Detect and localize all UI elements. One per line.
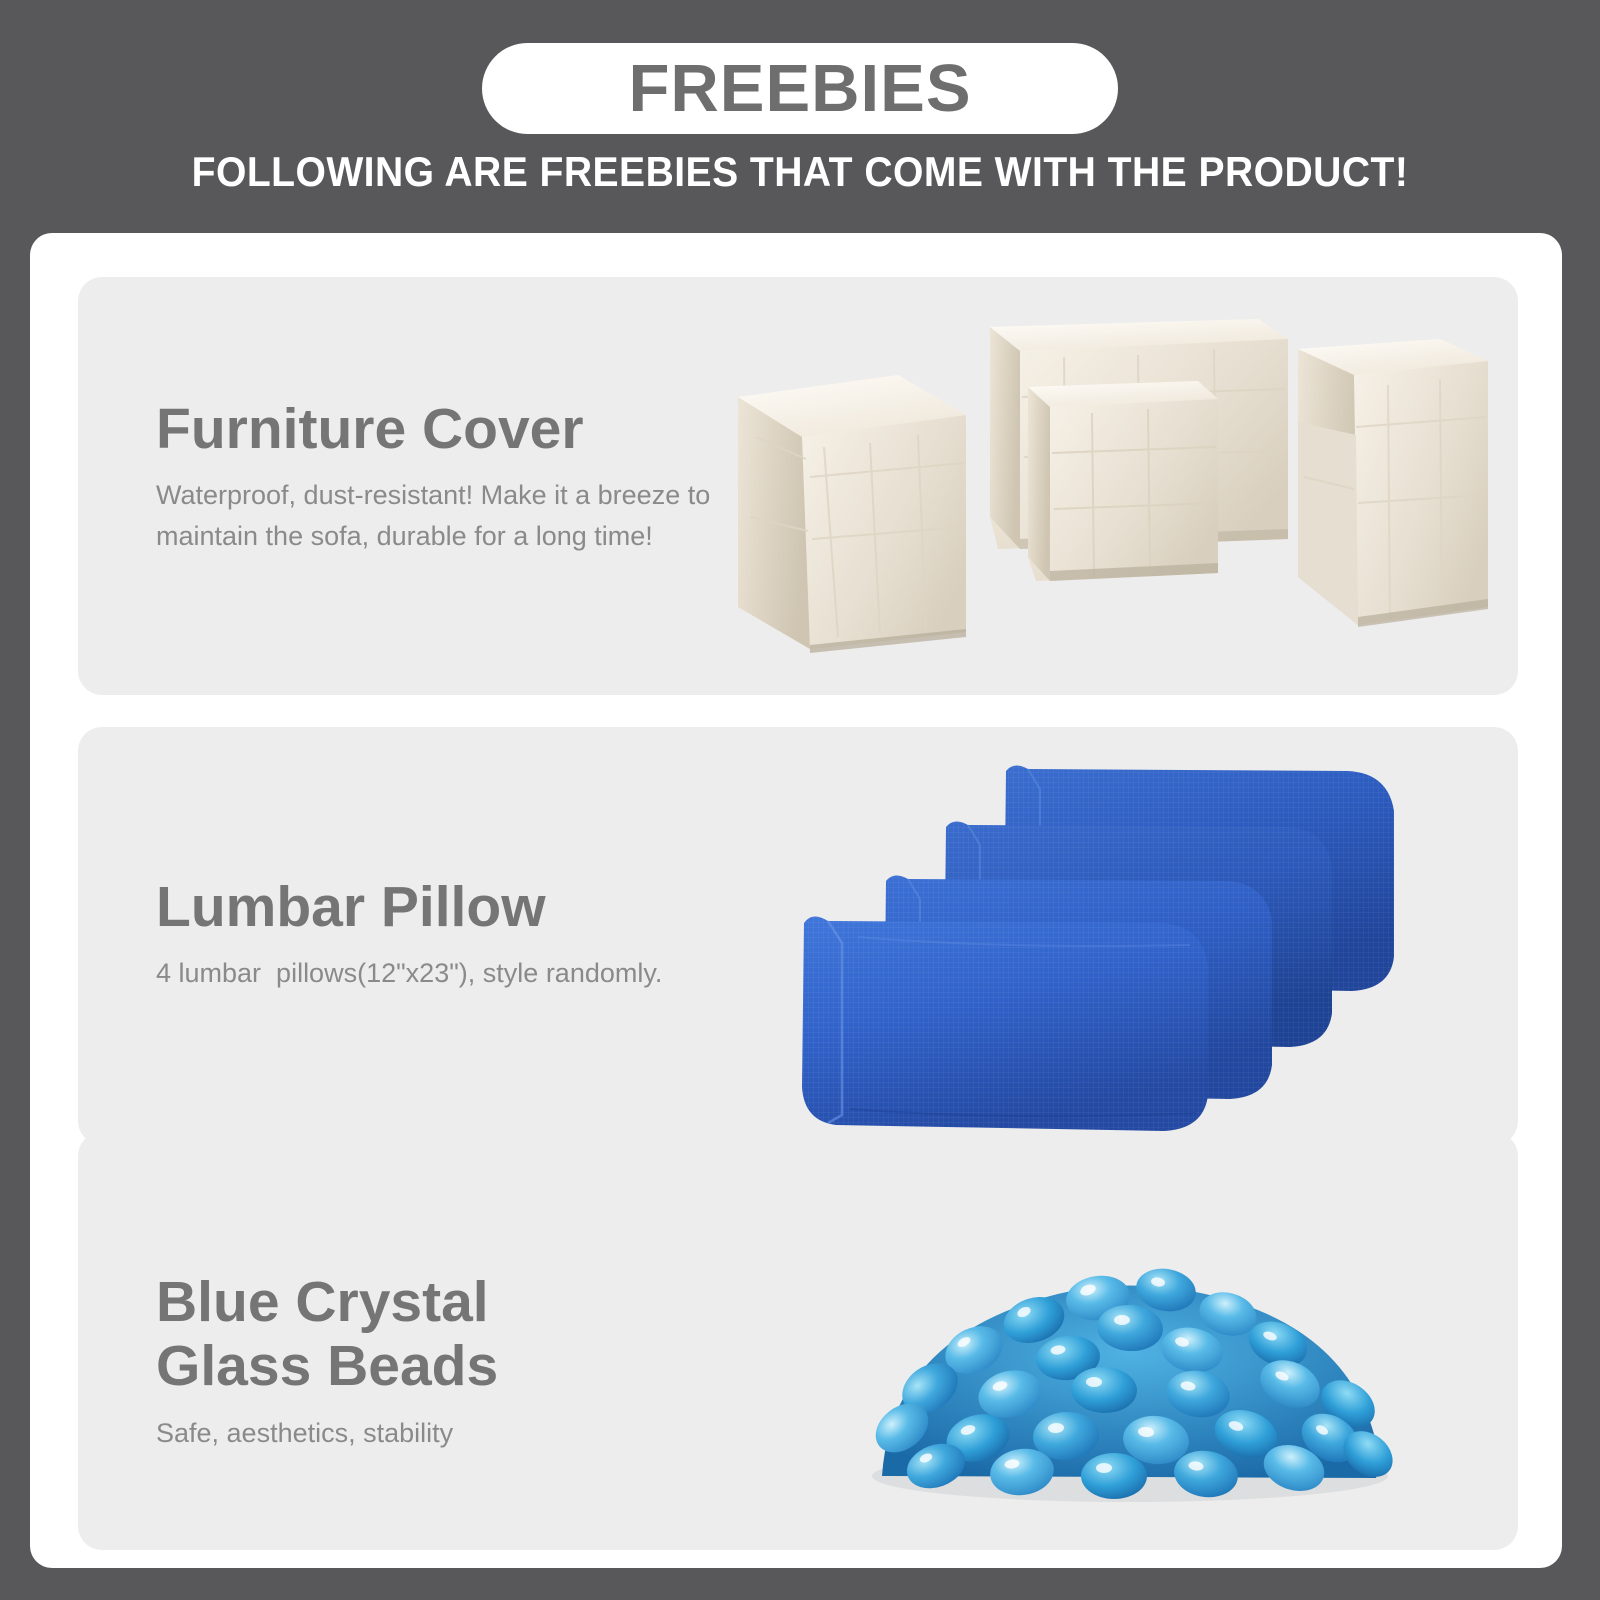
card-description: Waterproof, dust-resistant! Make it a br… (156, 475, 776, 557)
freebie-card-glass-beads: Blue Crystal Glass Beads Safe, aesthetic… (78, 1132, 1518, 1550)
card-title: Furniture Cover (156, 397, 776, 461)
freebies-infographic: FREEBIES FOLLOWING ARE FREEBIES THAT COM… (0, 0, 1600, 1600)
header: FREEBIES FOLLOWING ARE FREEBIES THAT COM… (0, 0, 1600, 220)
header-subtitle: FOLLOWING ARE FREEBIES THAT COME WITH TH… (56, 148, 1544, 196)
card-title: Lumbar Pillow (156, 875, 776, 939)
lumbar-pillow-photo (778, 727, 1518, 1145)
card-description: 4 lumbar pillows(12"x23"), style randoml… (156, 953, 776, 994)
page-title: FREEBIES (628, 55, 971, 122)
freebie-card-lumbar-pillow: Lumbar Pillow 4 lumbar pillows(12"x23"),… (78, 727, 1518, 1145)
glass-beads-photo (778, 1132, 1518, 1550)
card-text-block: Furniture Cover Waterproof, dust-resista… (156, 397, 776, 557)
content-panel: Furniture Cover Waterproof, dust-resista… (30, 233, 1562, 1568)
card-text-block: Blue Crystal Glass Beads Safe, aesthetic… (156, 1270, 776, 1454)
freebie-card-furniture-cover: Furniture Cover Waterproof, dust-resista… (78, 277, 1518, 695)
card-title: Blue Crystal Glass Beads (156, 1270, 776, 1399)
card-description: Safe, aesthetics, stability (156, 1413, 776, 1454)
card-text-block: Lumbar Pillow 4 lumbar pillows(12"x23"),… (156, 875, 776, 994)
furniture-cover-photo (698, 277, 1518, 695)
freebies-badge: FREEBIES (482, 43, 1118, 134)
